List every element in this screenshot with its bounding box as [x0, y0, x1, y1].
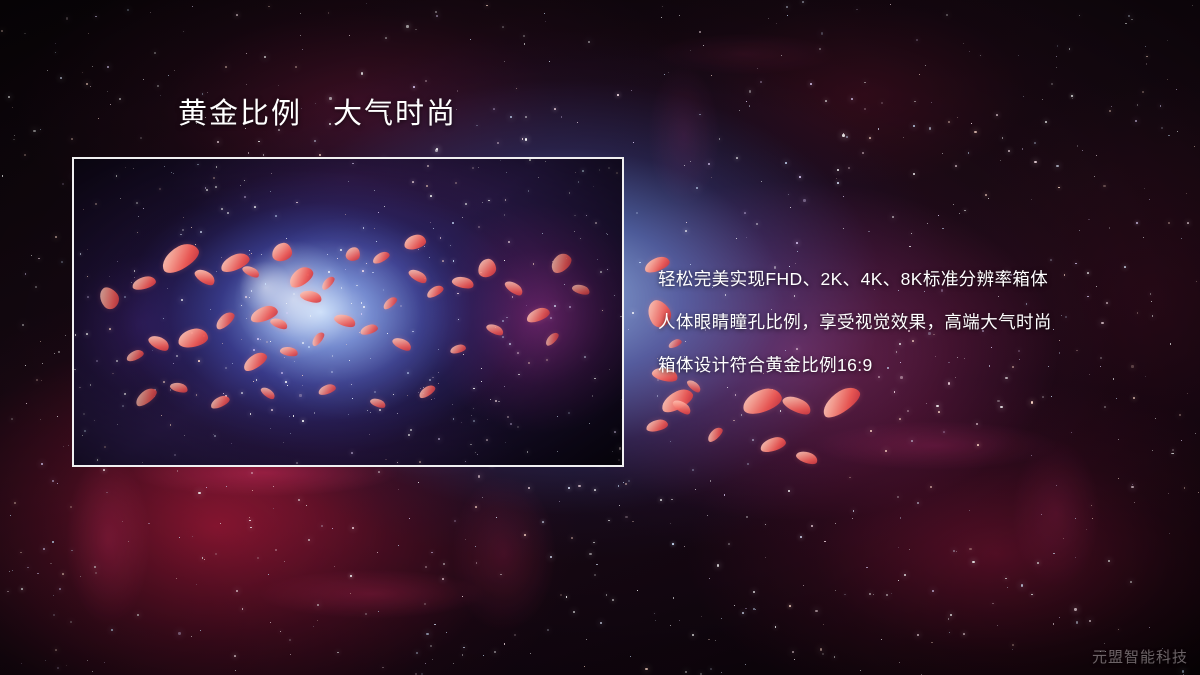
petal	[286, 264, 317, 291]
panel-petals	[74, 159, 622, 465]
body-line-3: 箱体设计符合黄金比例16:9	[658, 344, 1158, 387]
petal	[345, 246, 361, 262]
petal	[571, 282, 591, 297]
petal	[818, 382, 864, 421]
petal	[131, 275, 157, 292]
presentation-slide: 黄金比例 大气时尚 轻松完美实现FHD、2K、4K、8K标准分辨率箱体 人体眼睛…	[0, 0, 1200, 675]
petal	[391, 335, 413, 354]
petal	[241, 263, 261, 280]
petal	[319, 275, 336, 292]
petal	[740, 385, 785, 417]
petal	[299, 288, 323, 305]
petal	[209, 394, 231, 411]
petal	[269, 316, 289, 332]
petal	[417, 383, 437, 400]
petal	[425, 284, 445, 300]
petal	[317, 383, 337, 397]
petal	[485, 321, 505, 337]
petal	[543, 331, 560, 348]
petal	[310, 330, 327, 347]
petal	[780, 392, 813, 418]
panel-nebula	[74, 159, 622, 465]
petal	[451, 274, 475, 291]
panel-vignette	[74, 159, 622, 465]
petal	[503, 278, 525, 298]
watermark-logo-text: 元盟智能科技	[1092, 646, 1188, 667]
petal	[240, 349, 269, 373]
petal	[125, 348, 145, 363]
petal	[369, 396, 387, 410]
petal	[547, 250, 574, 276]
petal	[259, 385, 276, 401]
panel-starfield	[74, 159, 622, 465]
petal	[795, 448, 820, 466]
body-line-2: 人体眼睛瞳孔比例，享受视觉效果，高端大气时尚	[658, 301, 1158, 344]
framed-image-panel	[72, 157, 624, 467]
petal	[279, 345, 299, 358]
petal	[333, 311, 358, 329]
petal	[645, 418, 669, 433]
petal	[477, 258, 497, 278]
petal	[403, 233, 427, 251]
petal	[705, 425, 725, 443]
petal	[449, 343, 466, 354]
petal	[169, 380, 189, 394]
petal	[371, 250, 391, 266]
page-title: 黄金比例 大气时尚	[178, 100, 457, 129]
body-copy: 轻松完美实现FHD、2K、4K、8K标准分辨率箱体 人体眼睛瞳孔比例，享受视觉效…	[658, 258, 1158, 387]
petal	[218, 250, 251, 274]
petal	[759, 435, 787, 454]
petal	[95, 284, 123, 312]
petal	[193, 266, 218, 289]
petal	[249, 303, 280, 324]
petal	[671, 397, 693, 417]
petal	[157, 239, 203, 277]
petal	[213, 309, 237, 331]
petal	[271, 242, 293, 262]
panel-core-glow	[74, 159, 622, 465]
petal	[359, 323, 379, 336]
petal	[407, 266, 429, 285]
petal	[146, 332, 171, 354]
petal	[525, 306, 552, 325]
petal	[381, 295, 399, 311]
petal	[658, 385, 696, 415]
petal	[177, 327, 209, 349]
body-line-1: 轻松完美实现FHD、2K、4K、8K标准分辨率箱体	[658, 258, 1158, 301]
petal	[133, 385, 160, 408]
